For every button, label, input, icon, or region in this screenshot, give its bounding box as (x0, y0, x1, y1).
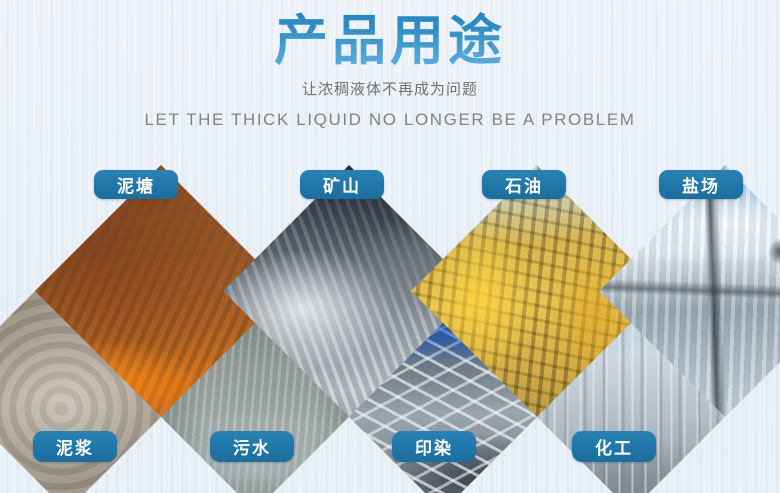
label-yinran[interactable]: 印染 (392, 431, 476, 462)
label-nitang[interactable]: 泥塘 (94, 170, 178, 199)
label-wushui[interactable]: 污水 (210, 431, 294, 462)
product-usage-banner: 产品用途 让浓稠液体不再成为问题 LET THE THICK LIQUID NO… (0, 0, 780, 493)
diamond-tile-grid (0, 0, 780, 493)
label-shiyou[interactable]: 石油 (482, 170, 566, 199)
label-kuangshan[interactable]: 矿山 (300, 170, 384, 199)
label-yanchang[interactable]: 盐场 (659, 170, 743, 199)
label-huagong[interactable]: 化工 (572, 431, 656, 462)
label-nijiang[interactable]: 泥浆 (33, 431, 117, 462)
